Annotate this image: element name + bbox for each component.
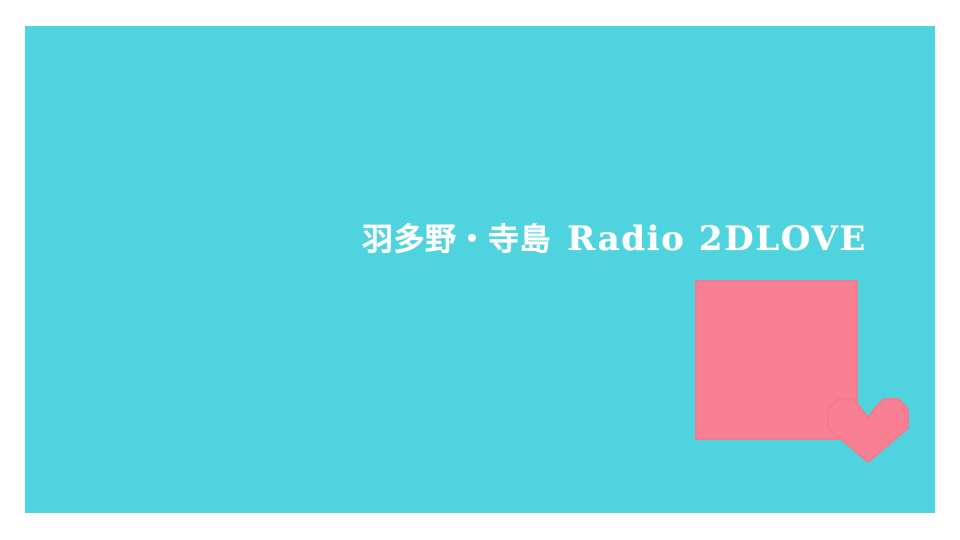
page-title-japanese: 羽多野・寺島 — [362, 225, 551, 256]
heart-icon — [824, 394, 912, 466]
page-title-english: Radio 2DLOVE — [567, 222, 867, 256]
heart-icon-shape — [824, 394, 912, 466]
title-card: 羽多野・寺島 Radio 2DLOVE — [0, 0, 960, 540]
title-lockup: 羽多野・寺島 Radio 2DLOVE — [362, 222, 867, 268]
